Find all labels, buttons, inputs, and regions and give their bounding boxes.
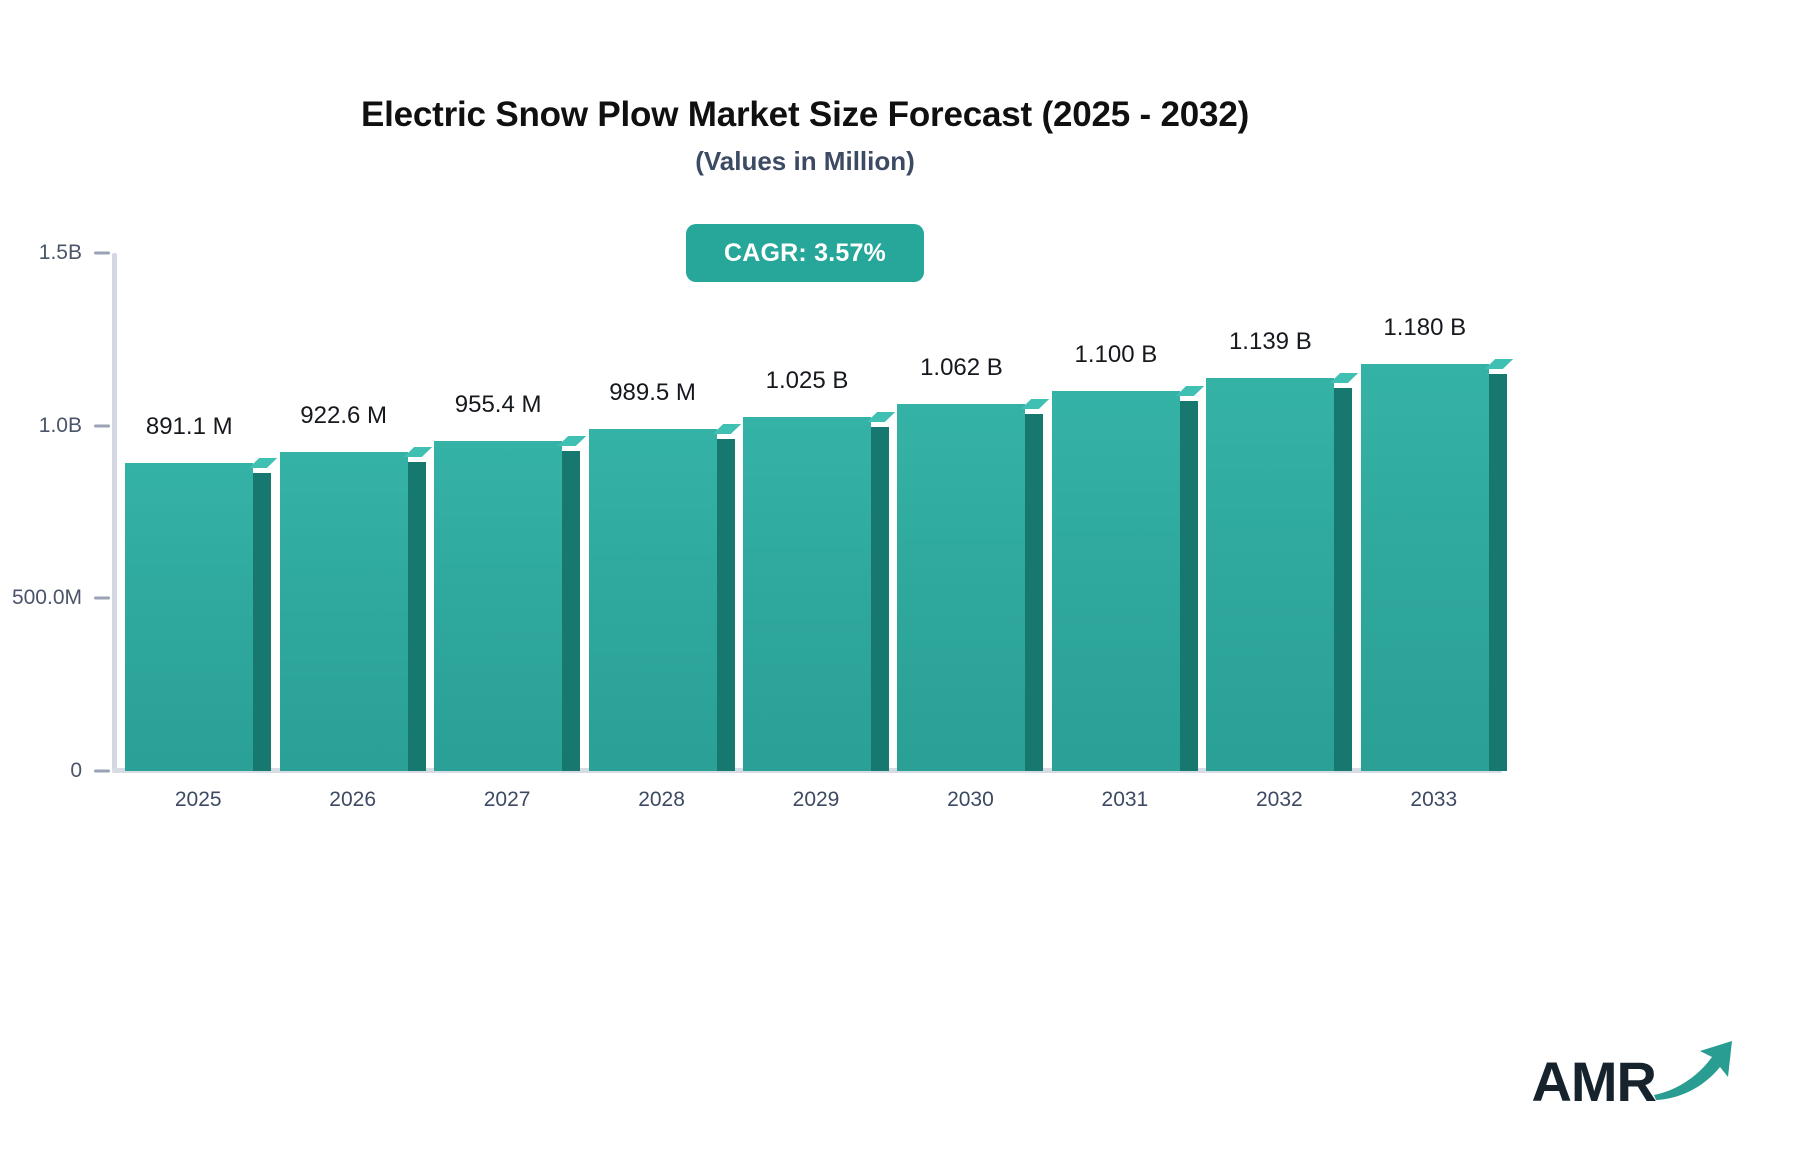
bar-value-label: 891.1 M bbox=[146, 413, 233, 441]
page-title: Electric Snow Plow Market Size Forecast … bbox=[0, 95, 1610, 135]
y-tick-mark bbox=[94, 424, 110, 427]
bar-top bbox=[249, 458, 277, 468]
y-tick: 0 bbox=[0, 771, 112, 772]
y-tick: 1.5B bbox=[0, 253, 112, 254]
bar-top bbox=[1176, 386, 1204, 396]
bar-top bbox=[403, 447, 431, 457]
bar-top bbox=[1021, 399, 1049, 409]
y-tick: 500.0M bbox=[0, 598, 112, 599]
chart-page: Electric Snow Plow Market Size Forecast … bbox=[0, 0, 1800, 1156]
bar-face bbox=[434, 441, 562, 771]
bar-side bbox=[1180, 401, 1198, 771]
x-tick-label: 2032 bbox=[1256, 788, 1303, 812]
bar-side bbox=[408, 462, 426, 771]
y-tick-label: 0 bbox=[70, 759, 82, 783]
y-tick-label: 500.0M bbox=[12, 586, 82, 610]
logo-text: AMR bbox=[1531, 1054, 1656, 1110]
bar-face bbox=[280, 452, 408, 771]
y-tick-mark bbox=[94, 252, 110, 255]
x-tick-label: 2025 bbox=[175, 788, 222, 812]
chart-subtitle: (Values in Million) bbox=[0, 146, 1610, 177]
bar-side bbox=[253, 473, 271, 771]
bar-2029: 1.025 B bbox=[743, 417, 871, 771]
bar-2032: 1.139 B bbox=[1206, 378, 1334, 771]
bar-2031: 1.100 B bbox=[1052, 391, 1180, 771]
bar-face bbox=[1361, 364, 1489, 771]
bar-face bbox=[1052, 391, 1180, 771]
y-tick-mark bbox=[94, 597, 110, 600]
amr-logo: AMR bbox=[1531, 1039, 1738, 1110]
bar-side bbox=[717, 439, 735, 771]
bar-value-label: 955.4 M bbox=[455, 391, 542, 419]
y-tick-label: 1.5B bbox=[39, 241, 82, 265]
bar-side bbox=[1334, 388, 1352, 771]
bar-side bbox=[1489, 374, 1507, 771]
y-tick: 1.0B bbox=[0, 426, 112, 427]
bar-value-label: 1.100 B bbox=[1075, 341, 1158, 369]
bar-value-label: 989.5 M bbox=[609, 379, 696, 407]
bar-2033: 1.180 B bbox=[1361, 364, 1489, 771]
bar-top bbox=[558, 436, 586, 446]
bar-top bbox=[867, 412, 895, 422]
x-tick-label: 2030 bbox=[947, 788, 994, 812]
bar-face bbox=[589, 429, 717, 771]
x-tick-label: 2027 bbox=[484, 788, 531, 812]
plot-area: 891.1 M922.6 M955.4 M989.5 M1.025 B1.062… bbox=[112, 253, 1502, 771]
y-tick-mark bbox=[94, 770, 110, 773]
bar-value-label: 1.062 B bbox=[920, 354, 1003, 382]
bar-2030: 1.062 B bbox=[897, 404, 1025, 771]
x-tick-label: 2033 bbox=[1410, 788, 1457, 812]
bar-value-label: 1.025 B bbox=[766, 367, 849, 395]
x-tick-label: 2028 bbox=[638, 788, 685, 812]
bar-side bbox=[1025, 414, 1043, 771]
bar-side bbox=[562, 451, 580, 771]
bar-side bbox=[871, 427, 889, 771]
bar-face bbox=[1206, 378, 1334, 771]
bar-face bbox=[743, 417, 871, 771]
x-tick-label: 2029 bbox=[793, 788, 840, 812]
bar-value-label: 1.180 B bbox=[1383, 314, 1466, 342]
bar-2026: 922.6 M bbox=[280, 452, 408, 771]
bar-value-label: 922.6 M bbox=[300, 402, 387, 430]
bar-top bbox=[712, 424, 740, 434]
bar-top bbox=[1330, 373, 1358, 383]
bar-2028: 989.5 M bbox=[589, 429, 717, 771]
bar-value-label: 1.139 B bbox=[1229, 328, 1312, 356]
y-tick-label: 1.0B bbox=[39, 414, 82, 438]
bar-top bbox=[1485, 359, 1513, 369]
bar-2027: 955.4 M bbox=[434, 441, 562, 771]
bar-2025: 891.1 M bbox=[125, 463, 253, 771]
bar-face bbox=[897, 404, 1025, 771]
x-tick-label: 2031 bbox=[1102, 788, 1149, 812]
bar-face bbox=[125, 463, 253, 771]
trend-up-arrow-icon bbox=[1652, 1039, 1738, 1106]
x-tick-label: 2026 bbox=[329, 788, 376, 812]
